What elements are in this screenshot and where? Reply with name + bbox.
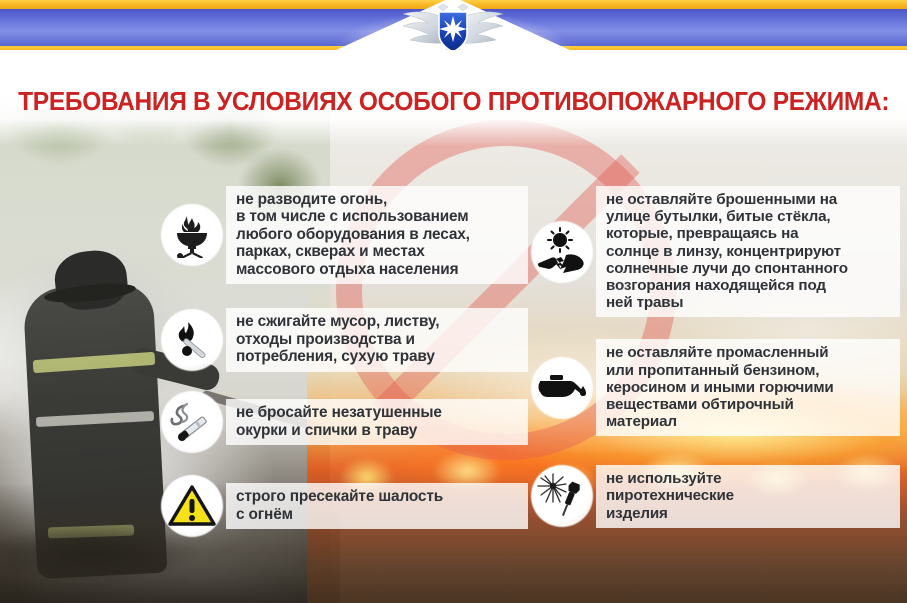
rule-text: не бросайте незатушенные окурки и спички… [226, 399, 528, 445]
rule-item: строго пресекайте шалость с огнём [158, 472, 528, 540]
rule-text: не сжигайте мусор, листву, отходы произв… [226, 308, 528, 371]
rule-item: не используйте пиротехнические изделия [528, 462, 900, 530]
rule-item: не разводите огонь, в том числе с исполь… [158, 186, 528, 284]
left-rules-column: не разводите огонь, в том числе с исполь… [158, 186, 528, 540]
cigarette-smoke-icon [158, 388, 226, 456]
burning-match-icon [158, 306, 226, 374]
rule-text: не разводите огонь, в том числе с исполь… [226, 186, 528, 284]
right-rules-column: не оставляйте брошенными на улице бутылк… [528, 186, 900, 530]
rule-text: не используйте пиротехнические изделия [596, 465, 900, 528]
page-title: ТРЕБОВАНИЯ В УСЛОВИЯХ ОСОБОГО ПРОТИВОПОЖ… [18, 88, 889, 117]
rule-item: не оставляйте брошенными на улице бутылк… [528, 186, 900, 317]
rule-item: не сжигайте мусор, листву, отходы произв… [158, 306, 528, 374]
rule-text: не оставляйте промасленный или пропитанн… [596, 339, 900, 436]
rule-text: строго пресекайте шалость с огнём [226, 483, 528, 529]
firework-rocket-icon [528, 462, 596, 530]
oil-can-drop-icon [528, 354, 596, 422]
warning-triangle-icon [158, 472, 226, 540]
sun-broken-bottle-icon [528, 218, 596, 286]
fire-safety-poster: ТРЕБОВАНИЯ В УСЛОВИЯХ ОСОБОГО ПРОТИВОПОЖ… [0, 0, 907, 603]
rule-text: не оставляйте брошенными на улице бутылк… [596, 186, 900, 317]
bbq-grill-fire-icon [158, 201, 226, 269]
rule-item: не оставляйте промасленный или пропитанн… [528, 339, 900, 436]
rule-item: не бросайте незатушенные окурки и спички… [158, 388, 528, 456]
